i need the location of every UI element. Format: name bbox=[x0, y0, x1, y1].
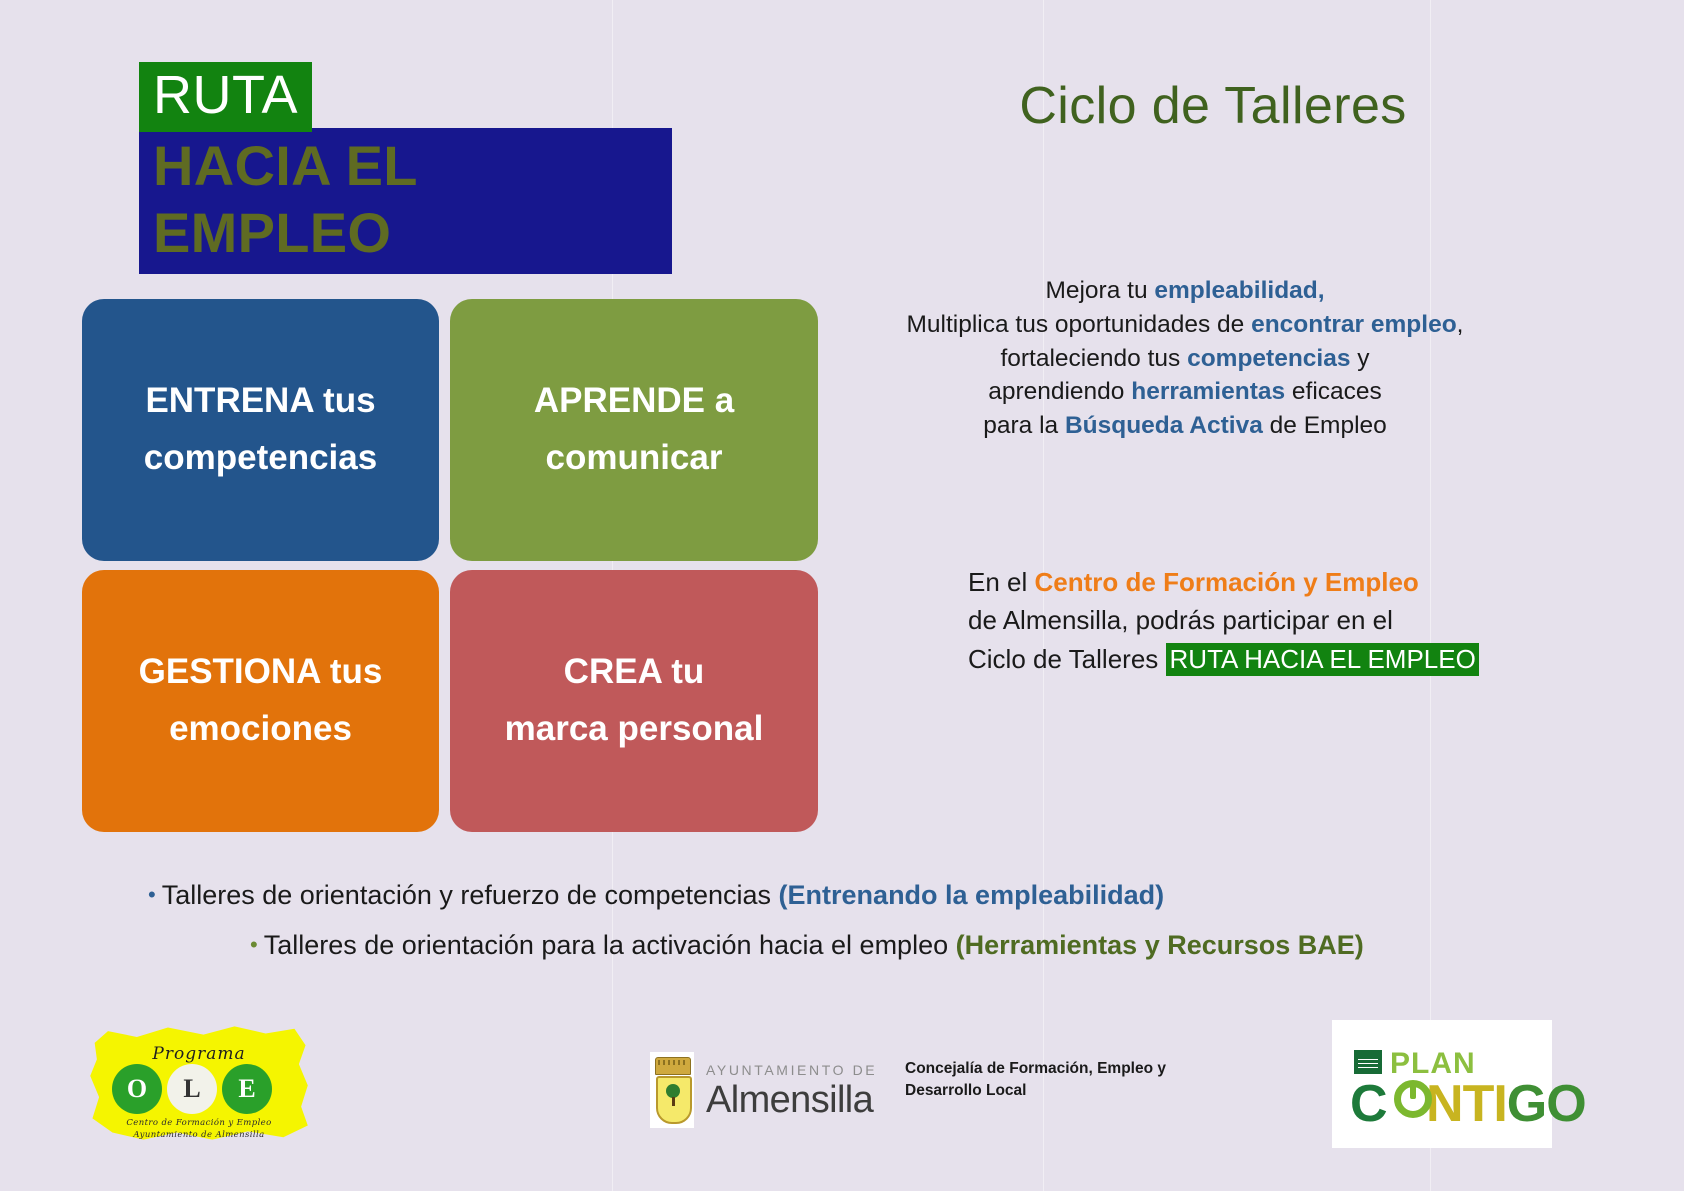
ole-letter-o: O bbox=[112, 1064, 162, 1114]
intro-line-5-part-1: para la bbox=[983, 412, 1065, 439]
intro-paragraph-line-1: Mejora tu empleabilidad, bbox=[900, 274, 1470, 308]
center-paragraph-line-1: En el Centro de Formación y Empleo bbox=[968, 563, 1528, 601]
bullet-item-2-tail: (Herramientas y Recursos BAE) bbox=[956, 930, 1364, 960]
ole-programa-text: Programa bbox=[80, 1044, 318, 1064]
workshop-box-aprende[interactable]: APRENDE a comunicar bbox=[450, 299, 818, 561]
intro-paragraph: Mejora tu empleabilidad,Multiplica tus o… bbox=[900, 274, 1470, 443]
intro-line-4-part-1: aprendiendo bbox=[988, 378, 1131, 405]
contigo-letters-n: N bbox=[1426, 1075, 1463, 1133]
almensilla-pretitle: AYUNTAMIENTO DE bbox=[706, 1062, 877, 1078]
programa-ole-logo: Programa O L E Centro de Formación y Emp… bbox=[80, 1018, 318, 1148]
workshop-box-gestiona-line2: emociones bbox=[169, 709, 352, 748]
plan-contigo-wordmark: CONTIGO bbox=[1350, 1078, 1586, 1130]
workshop-box-entrena-line1: ENTRENA tus bbox=[145, 381, 375, 420]
plan-contigo-logo: PLAN CONTIGO bbox=[1332, 1020, 1552, 1148]
intro-paragraph-line-3: fortaleciendo tus competencias y bbox=[900, 342, 1470, 376]
workshop-box-entrena-text: ENTRENA tus competencias bbox=[144, 373, 377, 486]
workshop-box-entrena-line2: competencias bbox=[144, 438, 377, 477]
almensilla-name: Almensilla bbox=[706, 1079, 873, 1122]
center-line1-highlight: Centro de Formación y Empleo bbox=[1035, 567, 1419, 597]
workshop-box-gestiona-line1: GESTIONA tus bbox=[139, 652, 383, 691]
workshop-box-aprende-line1: APRENDE a bbox=[534, 381, 734, 420]
bullet-item-2-text: Talleres de orientación para la activaci… bbox=[264, 930, 956, 960]
intro-line-2-part-2: encontrar empleo bbox=[1251, 311, 1457, 338]
power-button-icon bbox=[1394, 1080, 1432, 1118]
intro-paragraph-line-4: aprendiendo herramientas eficaces bbox=[900, 375, 1470, 409]
intro-line-5-part-3: de Empleo bbox=[1263, 412, 1387, 439]
intro-line-3-part-2: competencias bbox=[1187, 345, 1350, 372]
contigo-letter-c: C bbox=[1350, 1075, 1387, 1133]
intro-line-1-part-1: Mejora tu bbox=[1045, 277, 1154, 304]
intro-line-3-part-3: y bbox=[1350, 345, 1369, 372]
workshop-box-aprende-text: APRENDE a comunicar bbox=[534, 373, 734, 486]
center-paragraph-line-2: de Almensilla, podrás participar en el bbox=[968, 601, 1528, 639]
bullet-item-1: •Talleres de orientación y refuerzo de c… bbox=[0, 876, 1560, 914]
bullet-item-1-text: Talleres de orientación y refuerzo de co… bbox=[162, 880, 779, 910]
ruta-badge: RUTA HACIA EL EMPLEO bbox=[1166, 643, 1479, 676]
center-paragraph: En el Centro de Formación y Empleo de Al… bbox=[968, 563, 1528, 678]
intro-line-2-part-3: , bbox=[1457, 311, 1464, 338]
banner-line-ruta: RUTA bbox=[139, 62, 312, 132]
center-paragraph-line-3: Ciclo de Talleres RUTA HACIA EL EMPLEO bbox=[968, 640, 1528, 678]
tree-icon bbox=[666, 1084, 680, 1098]
ole-letter-e: E bbox=[222, 1064, 272, 1114]
center-line1-prefix: En el bbox=[968, 567, 1035, 597]
banner-line-hacia-el-empleo: HACIA EL EMPLEO bbox=[139, 128, 672, 274]
workshop-box-entrena[interactable]: ENTRENA tus competencias bbox=[82, 299, 439, 561]
ruta-banner: RUTA HACIA EL EMPLEO bbox=[139, 62, 672, 274]
intro-line-3-part-1: fortaleciendo tus bbox=[1000, 345, 1187, 372]
bullet-item-1-tail: (Entrenando la empleabilidad) bbox=[779, 880, 1165, 910]
almensilla-logo: AYUNTAMIENTO DE Almensilla bbox=[650, 1052, 890, 1132]
workshop-box-aprende-line2: comunicar bbox=[545, 438, 722, 477]
workshop-box-crea-line2: marca personal bbox=[505, 709, 764, 748]
contigo-letters-go: GO bbox=[1507, 1075, 1586, 1133]
ole-subtitle: Centro de Formación y Empleo Ayuntamient… bbox=[80, 1117, 318, 1142]
intro-line-2-part-1: Multiplica tus oportunidades de bbox=[907, 311, 1252, 338]
page-title: Ciclo de Talleres bbox=[948, 76, 1478, 136]
intro-paragraph-line-5: para la Búsqueda Activa de Empleo bbox=[900, 409, 1470, 443]
bullet-list: •Talleres de orientación y refuerzo de c… bbox=[0, 876, 1560, 965]
ole-subtitle-line2: Ayuntamiento de Almensilla bbox=[80, 1129, 318, 1141]
workshop-box-crea-line1: CREA tu bbox=[564, 652, 705, 691]
diputacion-mark-icon bbox=[1354, 1050, 1382, 1074]
bullet-dot-icon: • bbox=[148, 882, 156, 907]
workshop-box-gestiona[interactable]: GESTIONA tus emociones bbox=[82, 570, 439, 832]
concejalia-line2: Desarrollo Local bbox=[905, 1080, 1205, 1102]
intro-line-1-part-2: empleabilidad, bbox=[1154, 277, 1324, 304]
tree-trunk-shape bbox=[672, 1097, 675, 1106]
coat-of-arms-icon bbox=[650, 1052, 694, 1128]
workshop-box-gestiona-text: GESTIONA tus emociones bbox=[139, 644, 383, 757]
contigo-letters-ti: TI bbox=[1463, 1075, 1507, 1133]
bullet-dot-icon: • bbox=[250, 932, 258, 957]
crown-shape bbox=[655, 1057, 691, 1075]
concejalia-line1: Concejalía de Formación, Empleo y bbox=[905, 1058, 1205, 1080]
concejalia-text: Concejalía de Formación, Empleo y Desarr… bbox=[905, 1058, 1205, 1103]
bullet-item-2: •Talleres de orientación para la activac… bbox=[0, 926, 1560, 964]
ole-letter-l: L bbox=[167, 1064, 217, 1114]
center-line3-prefix: Ciclo de Talleres bbox=[968, 644, 1166, 674]
intro-paragraph-line-2: Multiplica tus oportunidades de encontra… bbox=[900, 308, 1470, 342]
intro-line-4-part-3: eficaces bbox=[1285, 378, 1382, 405]
intro-line-4-part-2: herramientas bbox=[1131, 378, 1285, 405]
workshop-box-crea-text: CREA tu marca personal bbox=[505, 644, 764, 757]
workshop-box-crea[interactable]: CREA tu marca personal bbox=[450, 570, 818, 832]
intro-line-5-part-2: Búsqueda Activa bbox=[1065, 412, 1263, 439]
ole-subtitle-line1: Centro de Formación y Empleo bbox=[80, 1117, 318, 1129]
ole-letter-circles: O L E bbox=[112, 1064, 282, 1114]
shield-body-shape bbox=[656, 1076, 692, 1124]
